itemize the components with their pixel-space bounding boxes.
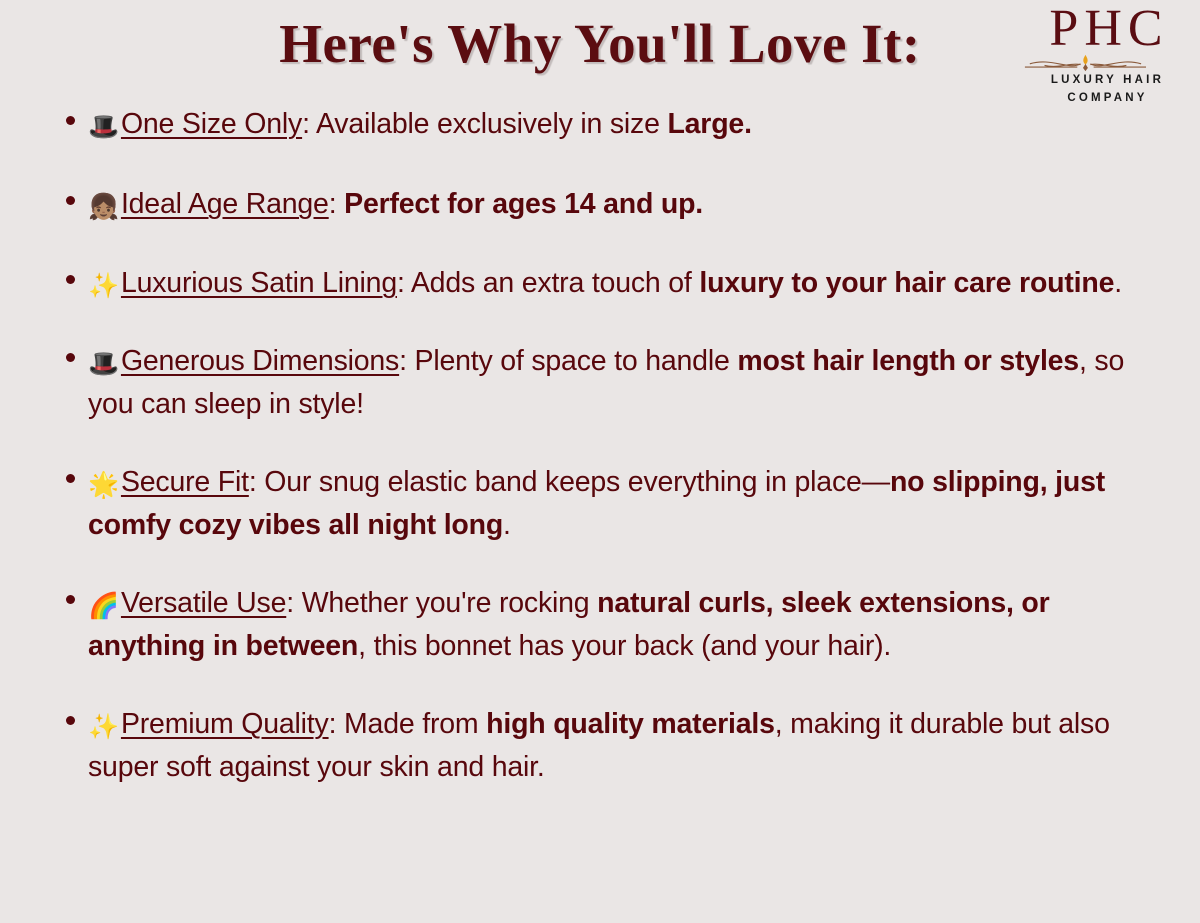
list-item-text-tail: . — [503, 509, 511, 541]
list-item-text: Our snug elastic band keeps everything i… — [264, 466, 890, 498]
list-item-emphasis: luxury to your hair care routine — [699, 267, 1114, 299]
list-item-emphasis: most hair length or styles — [737, 345, 1079, 377]
list-item-lead: Luxurious Satin Lining — [121, 267, 397, 299]
list-item: 🎩One Size Only: Available exclusively in… — [62, 103, 1167, 145]
bullet-marker — [66, 275, 75, 284]
list-item-colon: : — [286, 587, 301, 619]
list-item-colon: : — [397, 267, 411, 299]
list-item: 🌈Versatile Use: Whether you're rocking n… — [62, 582, 1167, 667]
list-item-text: Available exclusively in size — [316, 108, 667, 140]
top-hat-icon: 🎩 — [88, 108, 119, 145]
sparkles-icon: ✨ — [88, 708, 119, 745]
bullet-marker — [66, 116, 75, 125]
page-title: Here's Why You'll Love It: — [0, 12, 1200, 75]
list-item: 👧🏽Ideal Age Range: Perfect for ages 14 a… — [62, 183, 1167, 225]
list-item-text-tail: , this bonnet has your back (and your ha… — [358, 630, 891, 662]
list-item-colon: : — [399, 345, 414, 377]
list-item-text: Plenty of space to handle — [415, 345, 738, 377]
bullet-marker — [66, 716, 75, 725]
glowing-star-icon: 🌟 — [88, 466, 119, 503]
benefits-list: 🎩One Size Only: Available exclusively in… — [62, 103, 1167, 788]
rainbow-icon: 🌈 — [88, 587, 119, 624]
list-item-text: Whether you're rocking — [302, 587, 597, 619]
bullet-marker — [66, 196, 75, 205]
list-item: 🌟Secure Fit: Our snug elastic band keeps… — [62, 461, 1167, 546]
list-item-lead: One Size Only — [121, 108, 302, 140]
list-item-emphasis: high quality materials — [486, 708, 775, 740]
bullet-marker — [66, 353, 75, 362]
list-item-emphasis: Perfect for ages 14 and up. — [344, 188, 703, 220]
sparkles-icon: ✨ — [88, 267, 119, 304]
list-item-lead: Versatile Use — [121, 587, 286, 619]
list-item-colon: : — [329, 188, 344, 220]
list-item-text: Adds an extra touch of — [411, 267, 700, 299]
list-item-colon: : — [249, 466, 264, 498]
list-item-emphasis: Large. — [667, 108, 751, 140]
list-item: ✨Luxurious Satin Lining: Adds an extra t… — [62, 262, 1167, 304]
list-item-text-tail: . — [1114, 267, 1122, 299]
list-item-lead: Generous Dimensions — [121, 345, 399, 377]
list-item-lead: Premium Quality — [121, 708, 329, 740]
bullet-marker — [66, 595, 75, 604]
list-item-lead: Secure Fit — [121, 466, 249, 498]
list-item: 🎩Generous Dimensions: Plenty of space to… — [62, 340, 1167, 425]
list-item-colon: : — [302, 108, 316, 140]
girl-icon: 👧🏽 — [88, 188, 119, 225]
list-item-colon: : — [329, 708, 344, 740]
list-item-text: Made from — [344, 708, 486, 740]
bullet-marker — [66, 474, 75, 483]
list-item-lead: Ideal Age Range — [121, 188, 329, 220]
logo-tagline-line1: LUXURY HAIR — [1020, 75, 1192, 87]
top-hat-icon: 🎩 — [88, 345, 119, 382]
list-item: ✨Premium Quality: Made from high quality… — [62, 703, 1167, 788]
